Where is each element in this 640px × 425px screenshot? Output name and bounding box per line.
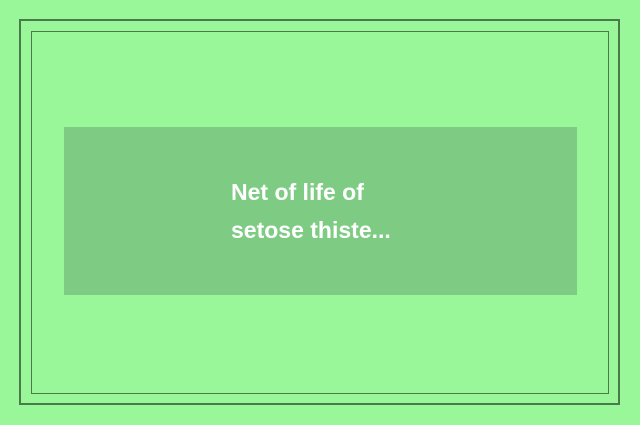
caption-line-1: Net of life of <box>231 173 577 211</box>
caption-panel: Net of life of setose thiste... <box>64 127 577 295</box>
card-canvas: Net of life of setose thiste... <box>0 0 640 425</box>
caption-line-2: setose thiste... <box>231 211 577 249</box>
